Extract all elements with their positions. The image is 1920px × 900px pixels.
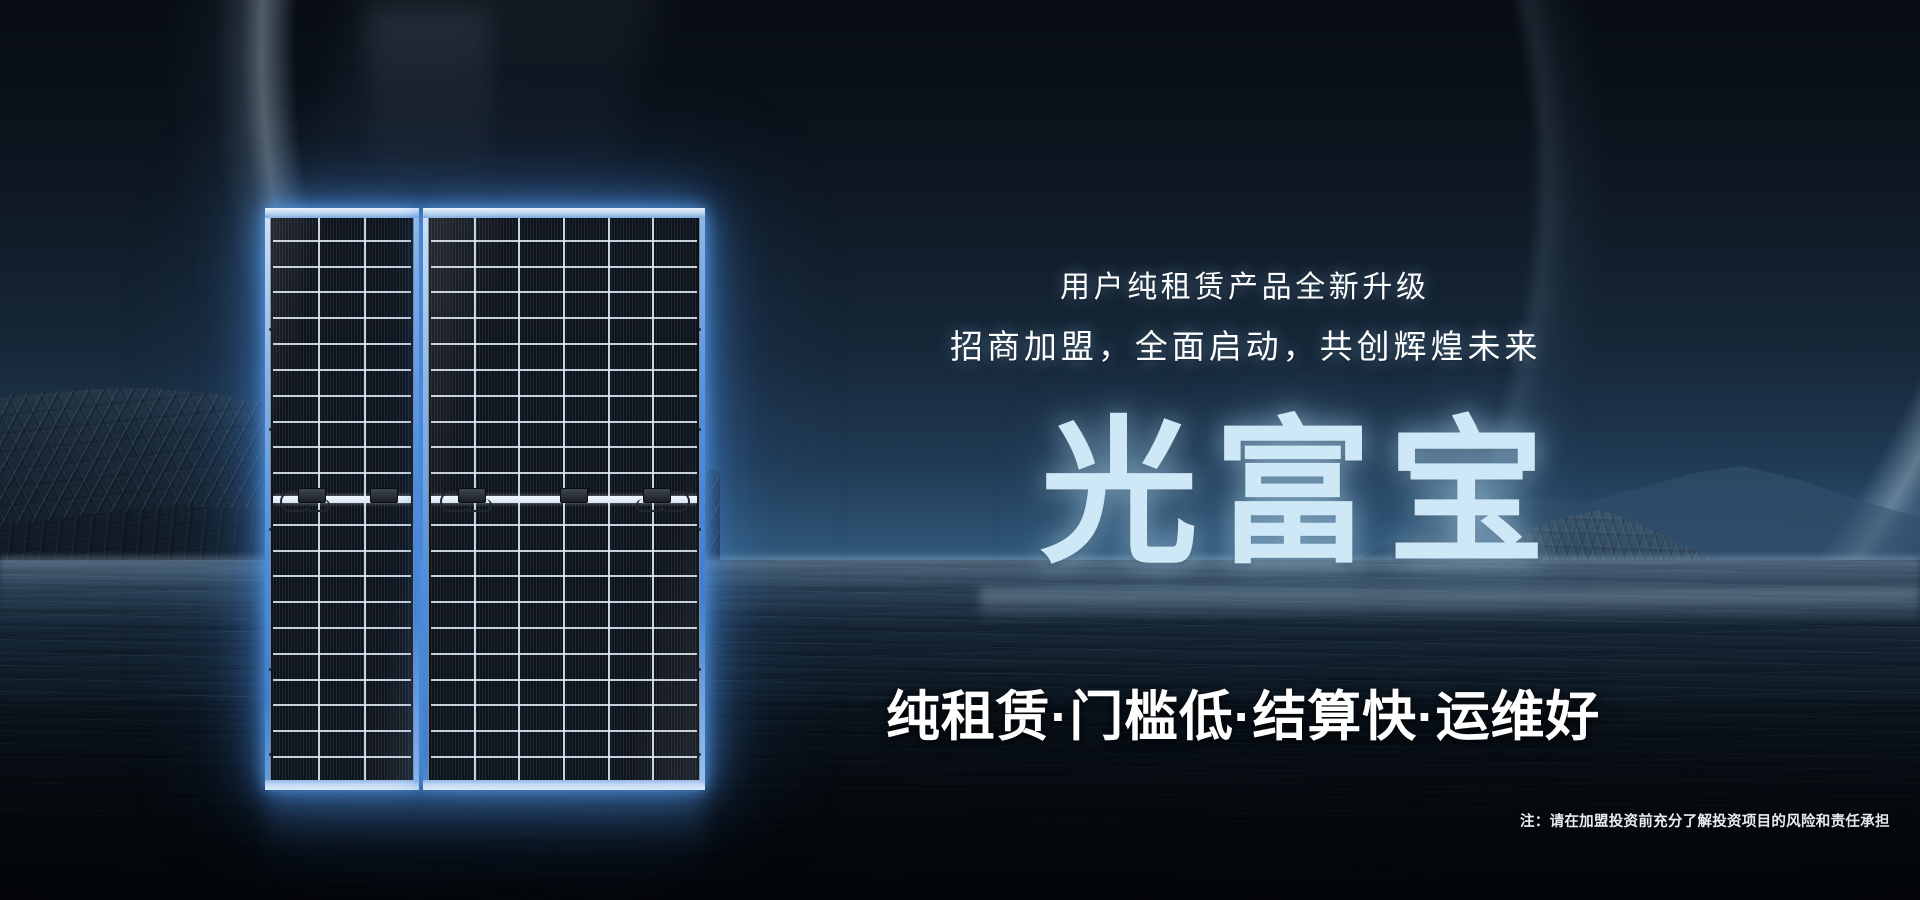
light-beam-core: [370, 10, 490, 210]
water-highlight-right: [980, 588, 1920, 622]
frame-rail-bottom-left: [265, 780, 419, 790]
brand-title: 光富宝: [1040, 415, 1561, 573]
junction-box-left-1: [298, 488, 326, 503]
solar-panel-group: [265, 208, 705, 790]
junction-box-right-3: [643, 488, 671, 503]
frame-rail-top-right: [423, 208, 705, 218]
tagline: 纯租赁·门槛低·结算快·运维好: [886, 672, 1600, 751]
headline-line-2: 招商加盟，全面启动，共创辉煌未来: [950, 320, 1541, 368]
junction-box-right-2: [560, 488, 588, 503]
junction-box-right-1: [458, 488, 486, 503]
frame-rail-top-left: [265, 208, 419, 218]
banner-stage: 用户纯租赁产品全新升级 招商加盟，全面启动，共创辉煌未来 光富宝 纯租赁·门槛低…: [0, 0, 1920, 900]
headline-line-1: 用户纯租赁产品全新升级: [1060, 262, 1430, 306]
disclaimer-note: 注：请在加盟投资前充分了解投资项目的风险和责任承担: [1520, 810, 1890, 831]
solar-panel-right: [423, 208, 705, 790]
solar-panel-reflection: [265, 792, 705, 888]
frame-rail-bottom-right: [423, 780, 705, 790]
solar-panel-left: [265, 208, 419, 790]
junction-box-left-2: [370, 488, 398, 503]
